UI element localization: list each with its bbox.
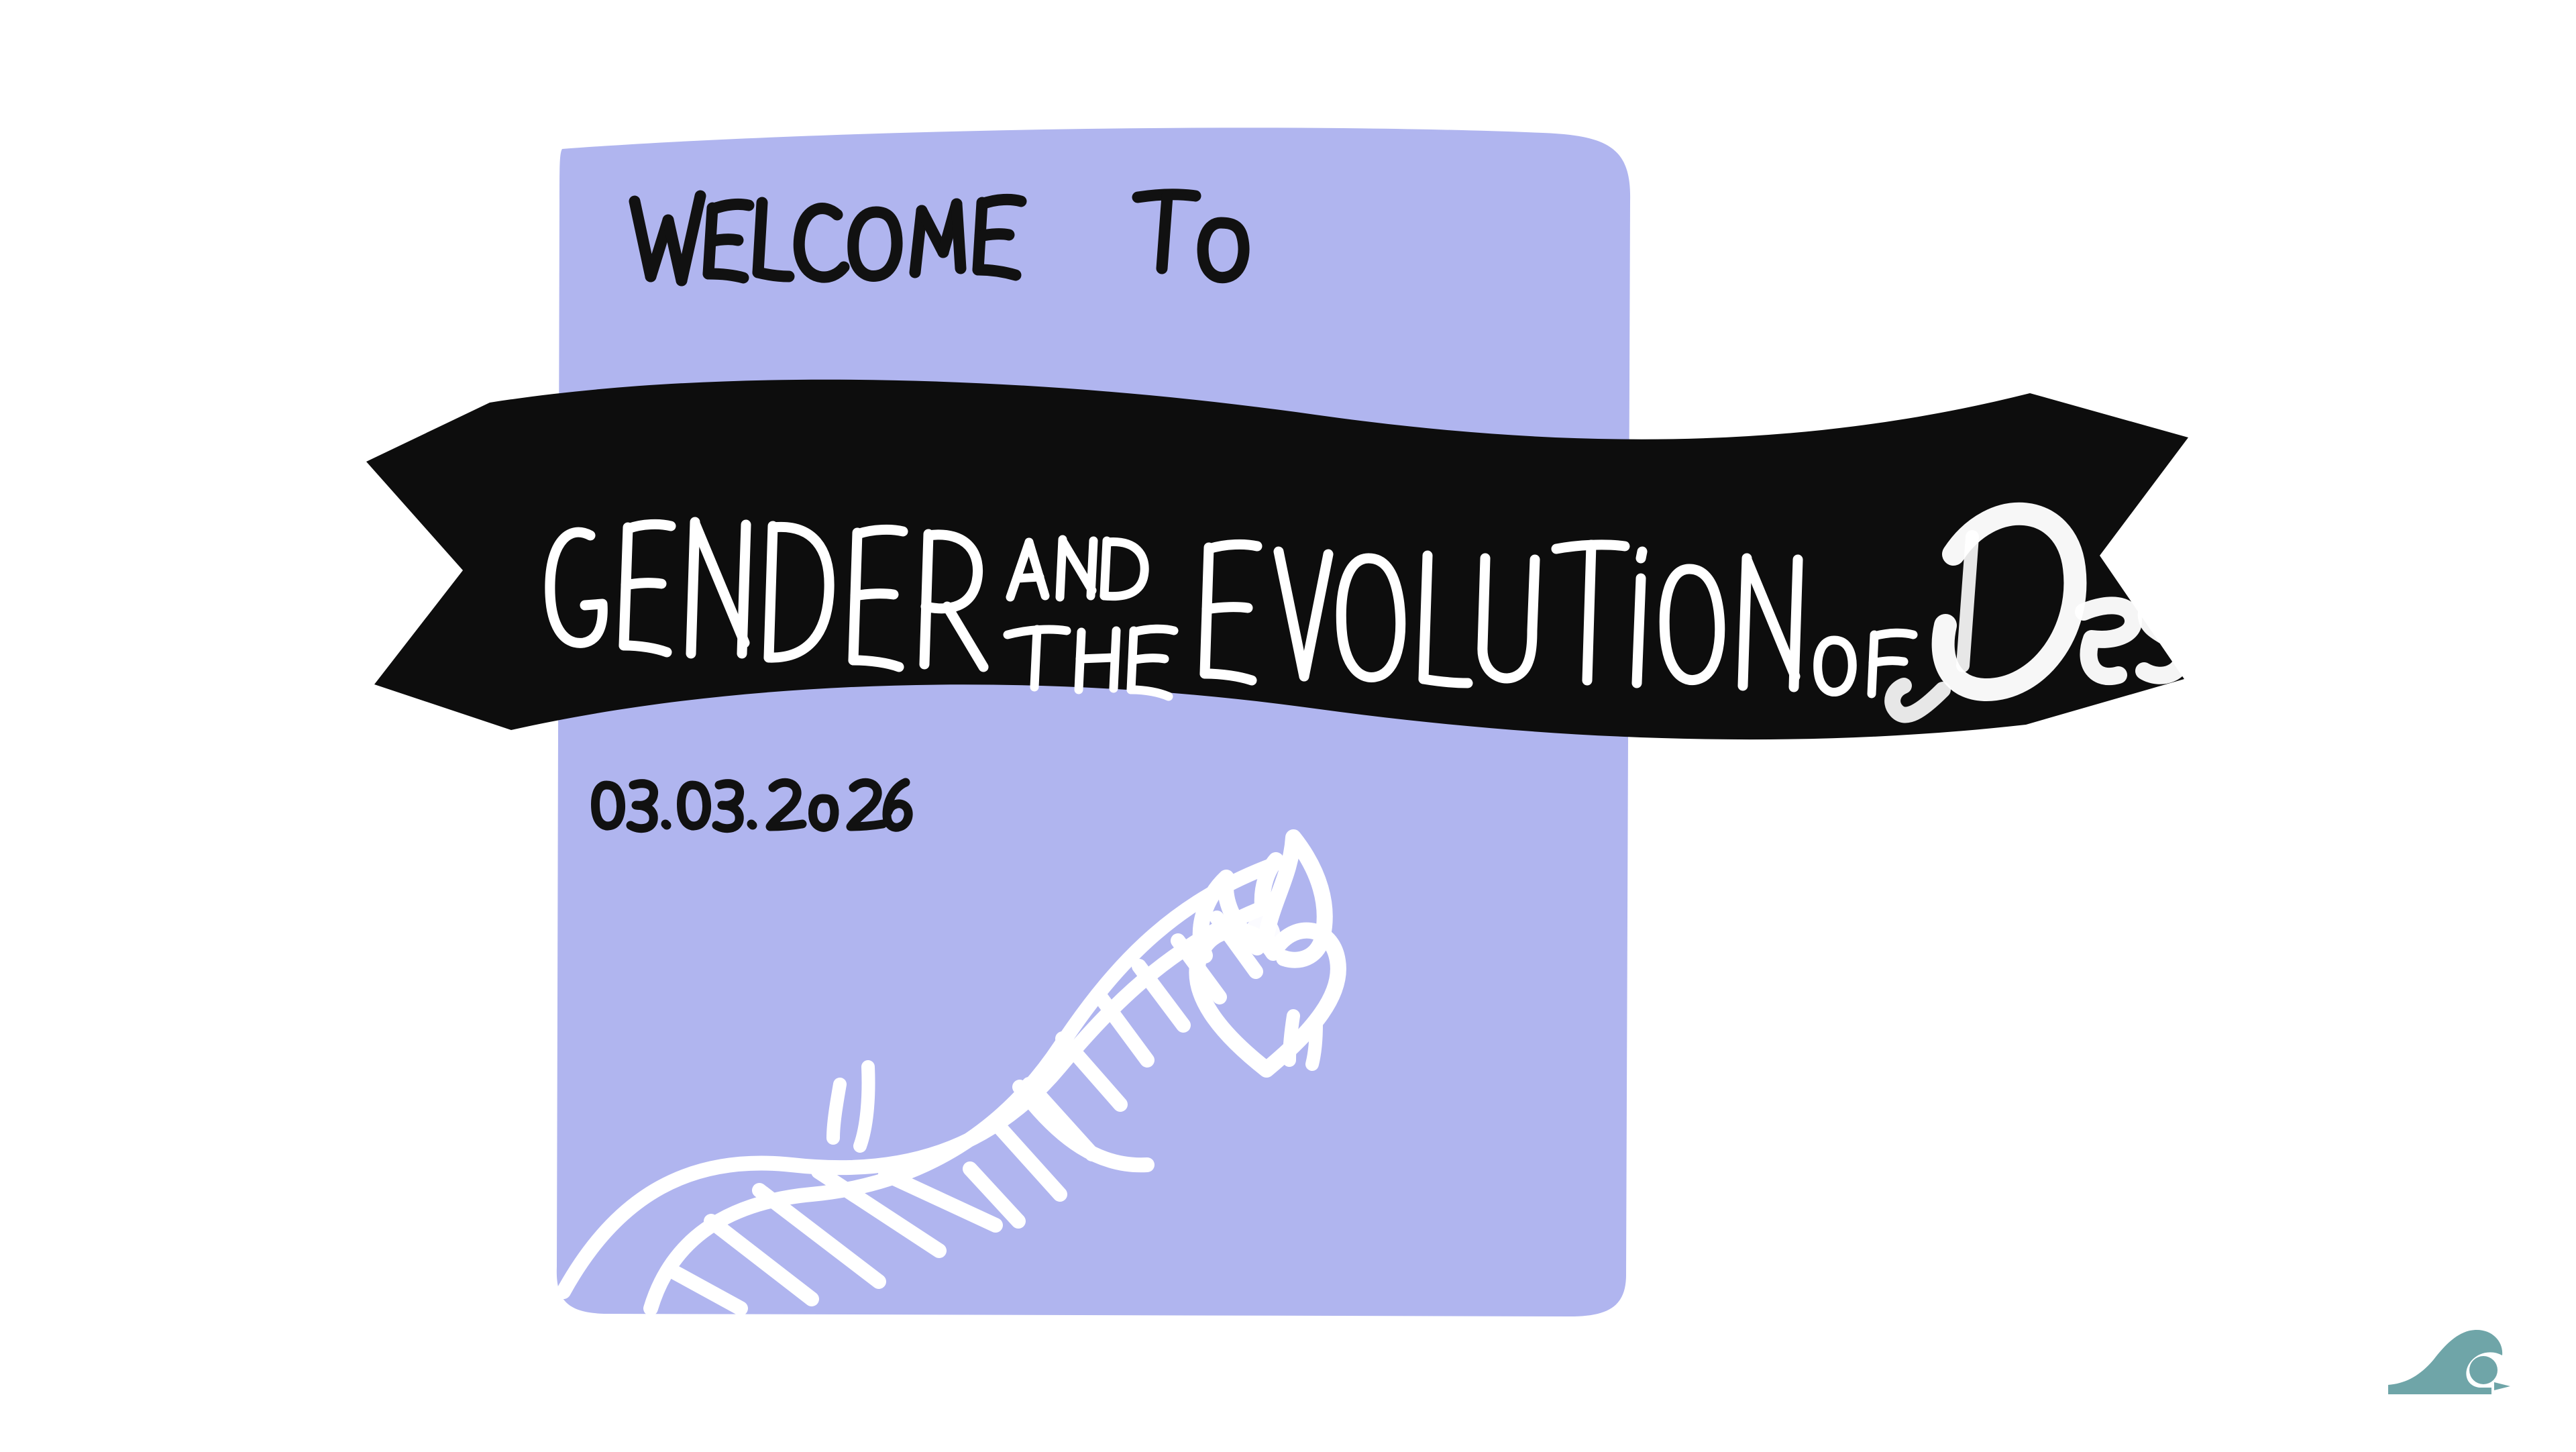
- title-banner: GENDER AND THE EVOLUTION OF DESIRE: [362, 376, 2200, 751]
- event-date: 03.03.2026: [590, 765, 912, 839]
- welcome-heading: WELCOME TO: [631, 188, 1436, 295]
- wave-logo: wave-with-circle-logo: [2385, 1320, 2533, 1408]
- presentation-slide: WELCOME TO: [0, 0, 2576, 1449]
